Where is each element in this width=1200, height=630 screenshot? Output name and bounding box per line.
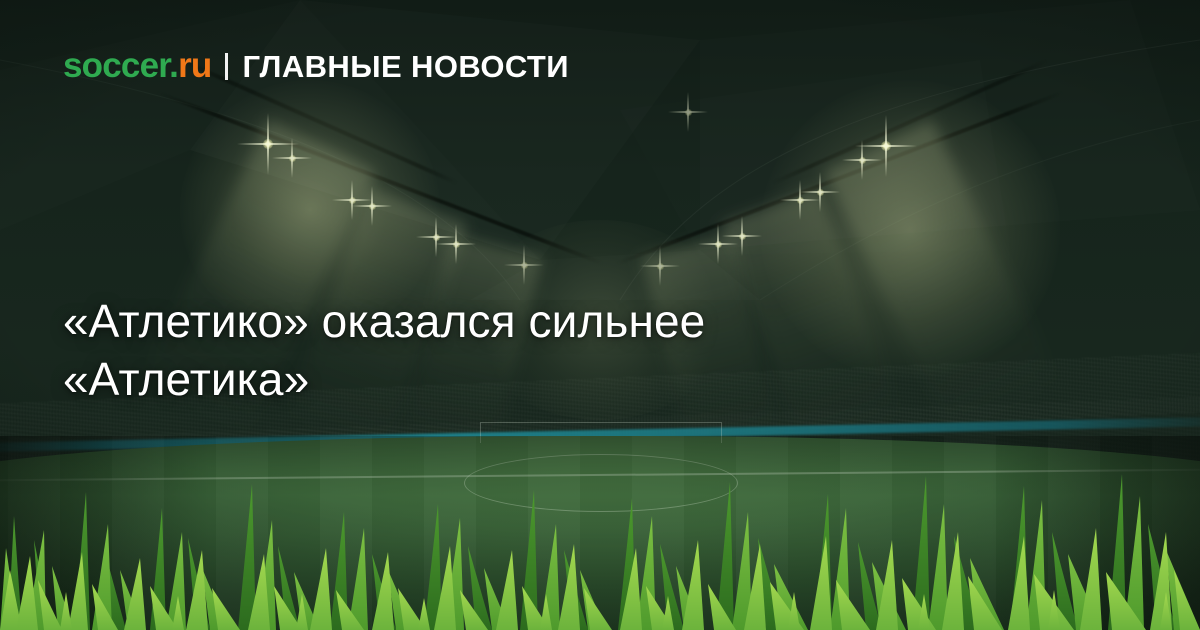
news-share-card: soccer.ru ГЛАВНЫЕ НОВОСТИ «Атлетико» ока… [0,0,1200,630]
roof-truss-right [615,90,1065,266]
pitch-vignette [0,436,1200,630]
football-pitch [0,436,1200,630]
floodlight-right-4 [817,189,824,196]
floodlight-left-4 [369,203,376,210]
header-divider [225,53,228,80]
floodlight-left-5 [433,234,440,241]
roof-truss-left [155,90,605,266]
page-title: «Атлетико» оказался сильнее «Атлетика» [63,293,963,409]
floodlight-right-6 [715,241,722,248]
section-title: ГЛАВНЫЕ НОВОСТИ [242,51,568,82]
floodlight-right-2 [859,157,866,164]
floodlight-left-6 [453,241,460,248]
floodlight-right-7 [657,263,664,270]
card-header: soccer.ru ГЛАВНЫЕ НОВОСТИ [63,48,569,83]
logo-dot: . [169,46,178,85]
floodlight-left-3 [349,197,356,204]
soccer-ru-logo[interactable]: soccer.ru [63,48,211,83]
headline-line-2: «Атлетика» [63,351,963,409]
floodlight-right-1 [881,141,891,151]
floodlight-right-5 [739,233,746,240]
floodlight-right-3 [797,197,804,204]
logo-word: soccer [63,46,169,85]
floodlight-left-1 [263,139,273,149]
headline-line-1: «Атлетико» оказался сильнее [63,293,963,351]
logo-tld: ru [178,46,211,85]
floodlight-left-2 [289,155,296,162]
floodlight-top-spark [685,109,692,116]
floodlight-left-7 [521,262,528,269]
roof-truss-right-upper [772,59,1048,185]
